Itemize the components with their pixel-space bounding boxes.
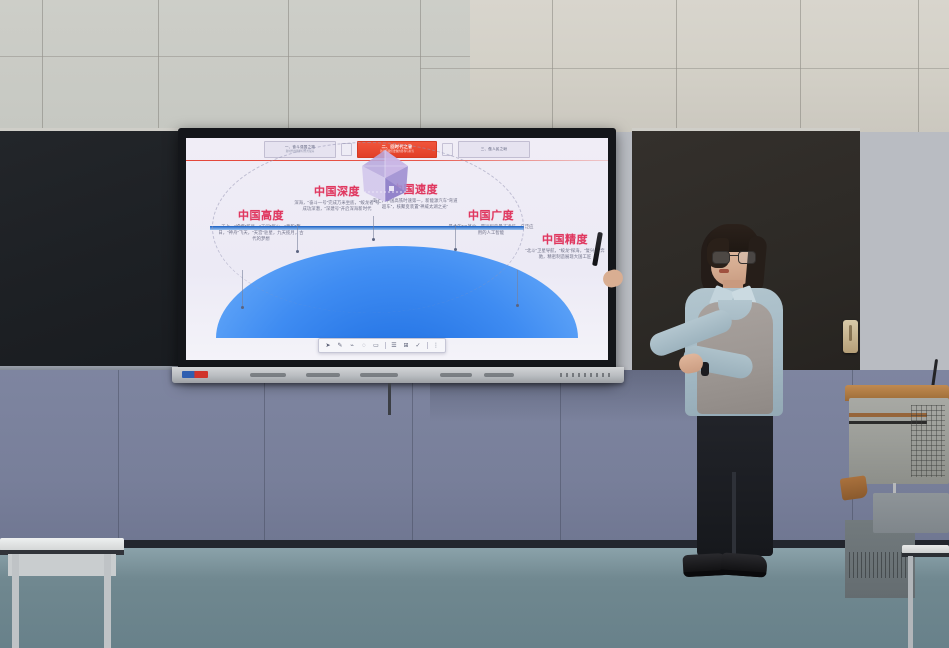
podium-speaker-grille <box>911 405 945 477</box>
wall-seam <box>42 0 43 132</box>
wall-seam <box>118 370 119 550</box>
more-icon[interactable]: ⋮ <box>433 342 440 349</box>
wall-mount-stem <box>388 383 391 415</box>
dome-node <box>296 250 299 253</box>
dome-node-stem <box>297 224 298 250</box>
front-desk-right <box>902 545 949 648</box>
podium-base <box>873 493 949 533</box>
desk-leg <box>908 556 913 648</box>
speaker-grille <box>484 373 514 377</box>
desk-apron <box>8 554 116 576</box>
brand-logo-icon <box>182 371 208 378</box>
3d-polyhedron-icon <box>356 148 414 204</box>
left-blackboard <box>0 128 190 371</box>
podium-wood-accent <box>840 475 869 500</box>
display-bottom-bezel <box>172 367 624 383</box>
grid-icon[interactable]: ⊞ <box>403 342 410 349</box>
check-icon[interactable]: ✓ <box>415 342 422 349</box>
presenter-shoe-right <box>720 552 767 577</box>
wall-seam <box>676 0 677 132</box>
glasses-lens <box>738 251 756 264</box>
presenter-teacher <box>655 222 815 612</box>
desk-leg <box>12 554 19 648</box>
wall-seam <box>158 0 159 132</box>
dome-node <box>516 304 519 307</box>
slide-tab-title: 三、做人民之盼 <box>481 147 508 151</box>
presenter-leg-gap <box>732 472 736 556</box>
layers-icon[interactable]: ☰ <box>391 342 398 349</box>
pen-icon[interactable]: ✎ <box>337 342 344 349</box>
toolbar-divider <box>385 342 386 349</box>
wall-seam <box>420 68 949 69</box>
dome-node <box>372 238 375 241</box>
wall-seam <box>918 0 919 132</box>
interactive-smartboard[interactable]: 一、奋斗强国之路 新时代的我们与伟大复兴 二、回时代之答 新征程我们要做的答卷与… <box>178 128 616 380</box>
select-icon[interactable]: ➤ <box>325 342 332 349</box>
upper-wall-left-panel <box>0 0 470 132</box>
lectern-podium[interactable] <box>845 385 949 525</box>
slide-floating-toolbar[interactable]: ➤ ✎ ⌁ ◌ ▭ ☰ ⊞ ✓ ⋮ <box>318 338 446 353</box>
wall-seam <box>0 56 470 57</box>
dome-node <box>454 248 457 251</box>
link-icon[interactable]: ⌁ <box>349 342 356 349</box>
glasses-lens <box>712 251 730 264</box>
dome-node-stem <box>373 216 374 238</box>
toolbar-divider <box>427 342 428 349</box>
sensor-dots <box>560 373 614 377</box>
presentation-slide[interactable]: 一、奋斗强国之路 新时代的我们与伟大复兴 二、回时代之答 新征程我们要做的答卷与… <box>186 138 608 360</box>
wall-seam <box>552 0 553 132</box>
dome-node-stem <box>455 224 456 248</box>
dome-node <box>241 306 244 309</box>
wall-seam <box>800 0 801 132</box>
speaker-grille <box>250 373 286 377</box>
display-screen[interactable]: 一、奋斗强国之路 新时代的我们与伟大复兴 二、回时代之答 新征程我们要做的答卷与… <box>186 138 608 360</box>
wall-mounted-switch-icon[interactable] <box>843 320 858 353</box>
wall-seam <box>264 370 265 550</box>
wall-seam <box>288 0 289 132</box>
dome-node-stem <box>242 270 243 306</box>
presenter-mouth <box>719 269 729 273</box>
wall-seam <box>420 0 421 132</box>
wall-seam <box>560 370 561 550</box>
desk-leg <box>104 554 111 648</box>
front-desk-left <box>0 538 124 648</box>
glasses-icon <box>712 251 756 263</box>
wall-seam <box>412 370 413 550</box>
speaker-grille <box>306 373 340 377</box>
classroom-scene: 一、奋斗强国之路 新时代的我们与伟大复兴 二、回时代之答 新征程我们要做的答卷与… <box>0 0 949 648</box>
dome-node-stem <box>517 270 518 304</box>
speaker-grille <box>360 373 398 377</box>
shape-icon[interactable]: ▭ <box>373 342 380 349</box>
shoe-sole <box>720 569 766 577</box>
lasso-icon[interactable]: ◌ <box>361 342 368 349</box>
glasses-bridge <box>729 255 738 256</box>
slide-tab-3[interactable]: 三、做人民之盼 <box>458 141 530 158</box>
speaker-grille <box>440 373 472 377</box>
